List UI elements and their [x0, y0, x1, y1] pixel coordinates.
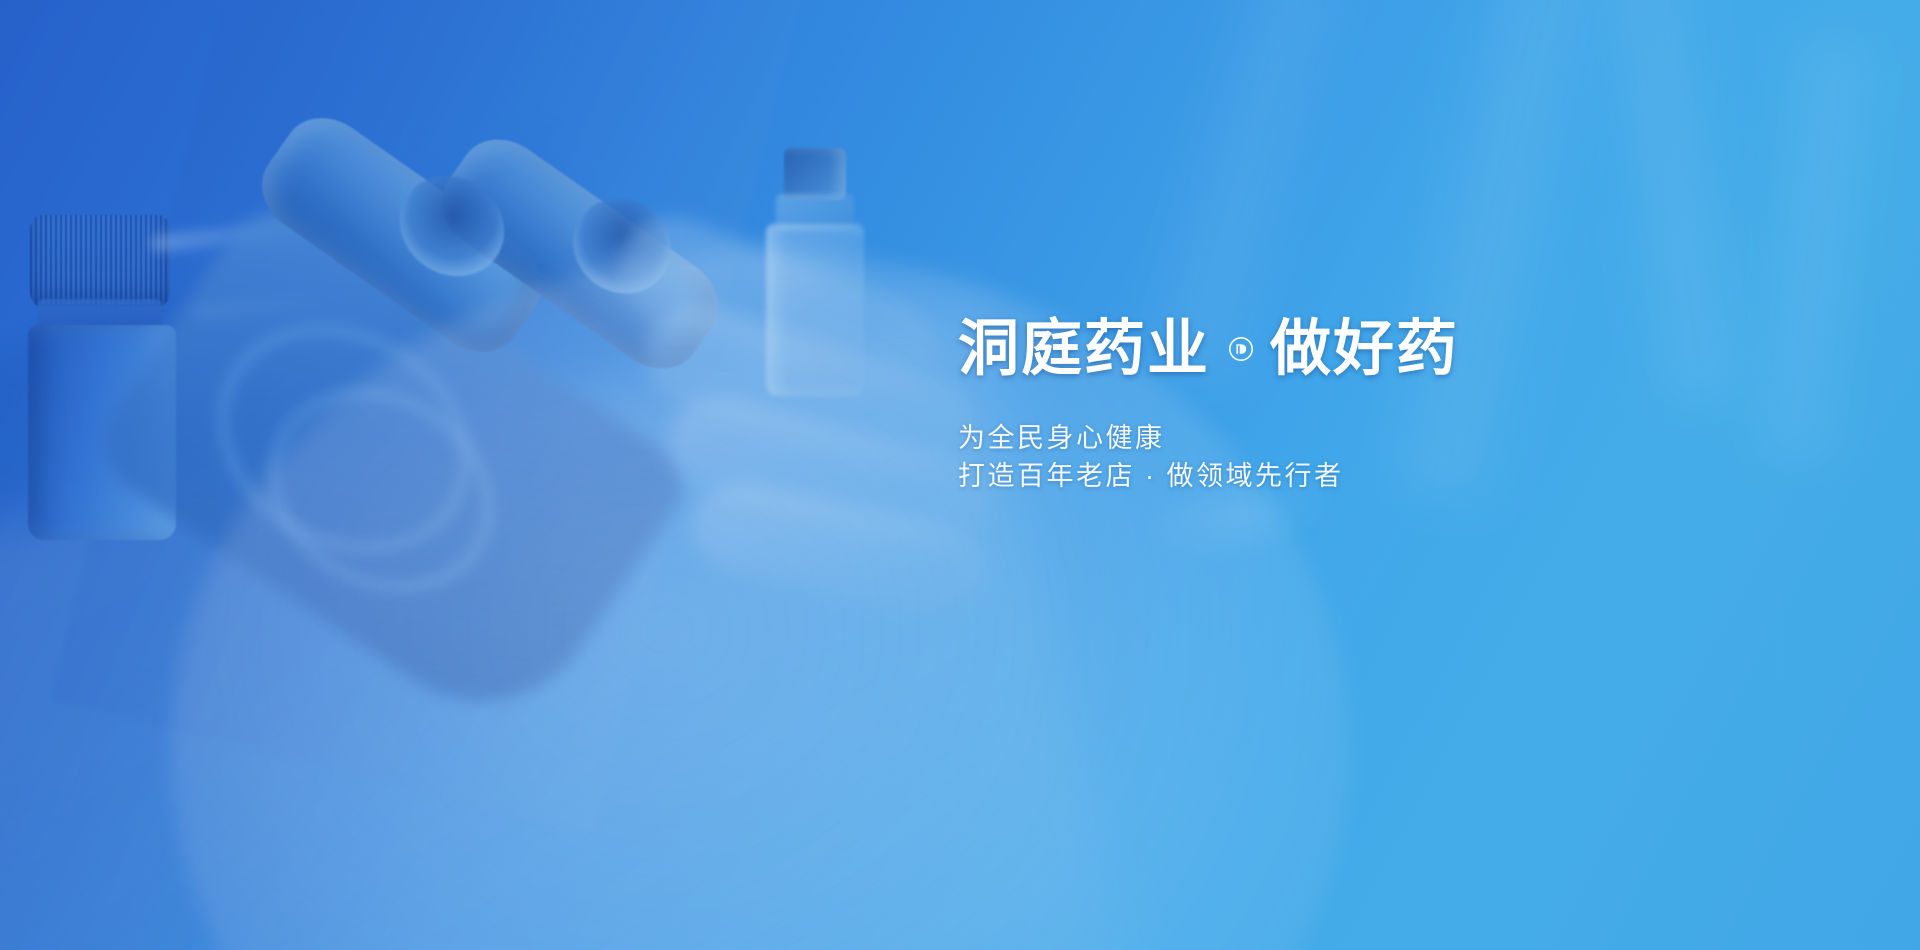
- circle-d-brand-icon: [1228, 336, 1254, 362]
- hero-subline-2: 打造百年老店 · 做领域先行者: [958, 457, 1678, 495]
- headline-slogan: 做好药: [1270, 318, 1459, 379]
- hero-headline: 洞庭药业 做好药: [958, 318, 1678, 379]
- hero-subline-1: 为全民身心健康: [958, 419, 1678, 457]
- hero-text-block: 洞庭药业 做好药 为全民身心健康 打造百年老店 · 做领域先行者: [958, 318, 1678, 496]
- hero-banner: 洞庭药业 做好药 为全民身心健康 打造百年老店 · 做领域先行者: [0, 0, 1920, 950]
- headline-company-name: 洞庭药业: [958, 318, 1210, 379]
